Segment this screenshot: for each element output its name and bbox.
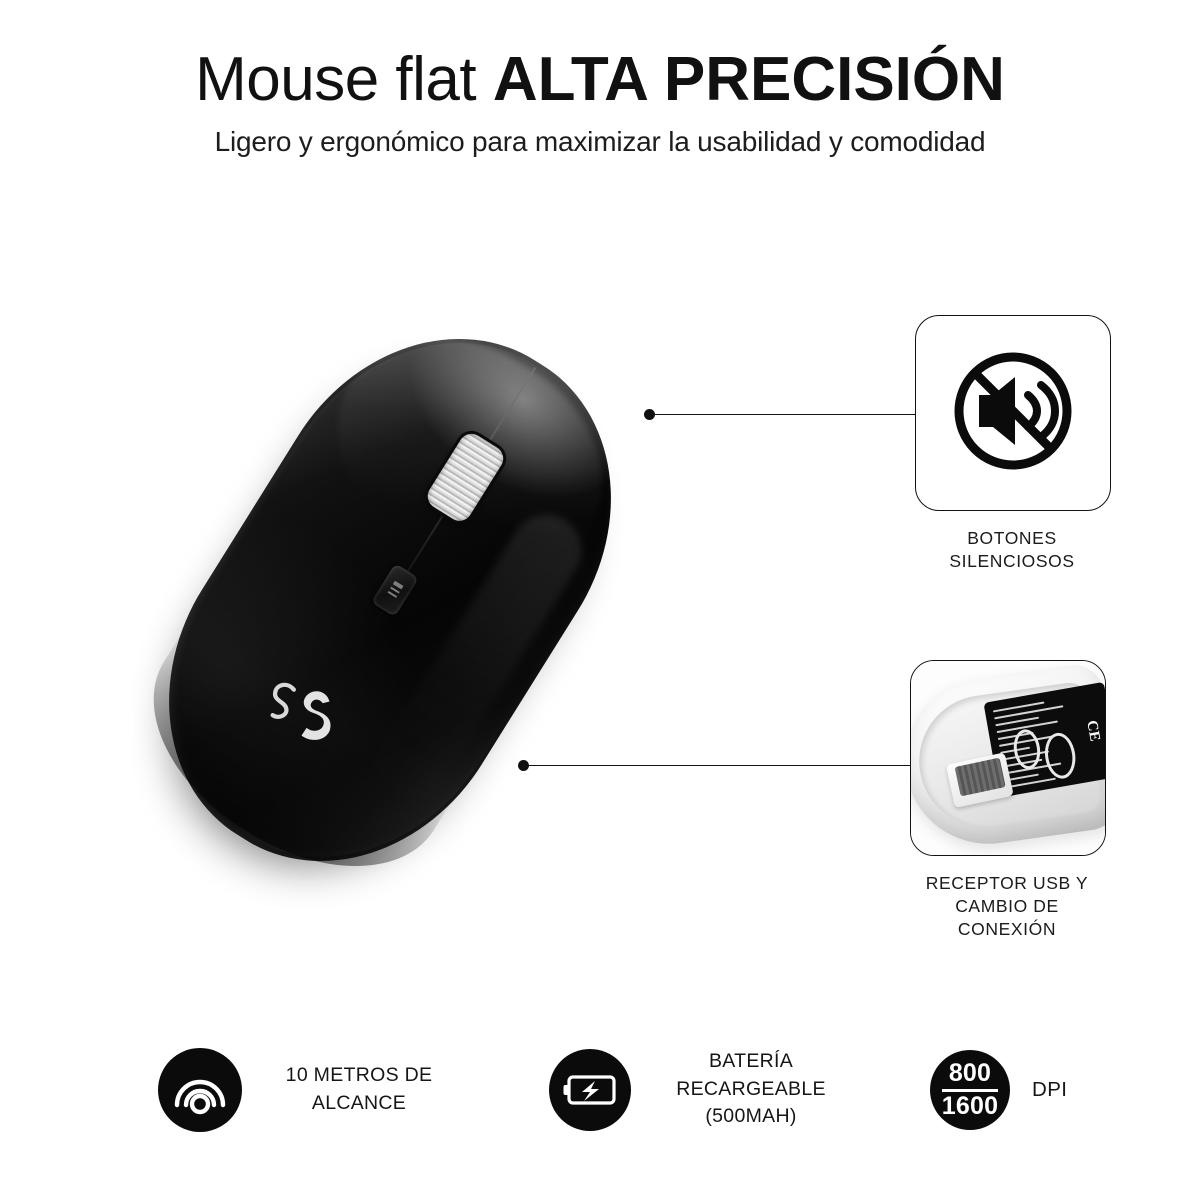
leader-line-usb-receiver xyxy=(528,765,910,766)
feature-range-text: 10 METROS DE ALCANCE xyxy=(264,1062,454,1117)
usb-receiver-photo: CE xyxy=(911,661,1105,855)
caption-line: BOTONES xyxy=(915,527,1109,550)
leader-dot-silent-buttons xyxy=(644,409,655,420)
feature-battery: BATERÍA RECARGEABLE (500MAH) xyxy=(549,1048,851,1131)
dpi-label: DPI xyxy=(1032,1078,1067,1102)
dpi-value-bottom: 1600 xyxy=(942,1094,998,1120)
brand-logo-icon xyxy=(256,673,342,751)
title-bold-part: ALTA PRECISIÓN xyxy=(493,45,1005,114)
mouse-illustration xyxy=(102,275,679,925)
feature-line: RECARGEABLE xyxy=(651,1076,851,1104)
callout-box-usb-receiver: CE xyxy=(910,660,1106,856)
dpi-badge: 800 1600 xyxy=(930,1050,1010,1130)
callout-caption-usb-receiver: RECEPTOR USB Y CAMBIO DE CONEXIÓN xyxy=(910,872,1104,941)
callout-usb-receiver: CE RECEPTOR USB Y CAMBIO DE CONEXIÓN xyxy=(910,660,1104,980)
mute-speaker-icon xyxy=(949,347,1077,475)
feature-line: BATERÍA xyxy=(651,1048,851,1076)
wireless-signal-icon xyxy=(158,1048,242,1132)
page-title: Mouse flat ALTA PRECISIÓN xyxy=(0,48,1200,112)
feature-line: (500MAH) xyxy=(651,1103,851,1131)
leader-line-silent-buttons xyxy=(654,414,916,415)
leader-dot-usb-receiver xyxy=(518,760,529,771)
feature-dpi: 800 1600 DPI xyxy=(930,1050,1067,1130)
caption-line: RECEPTOR USB Y xyxy=(910,872,1104,895)
callout-caption-silent-buttons: BOTONES SILENCIOSOS xyxy=(915,527,1109,573)
product-photo-main xyxy=(130,280,750,920)
dpi-values: 800 1600 xyxy=(942,1061,998,1119)
header: Mouse flat ALTA PRECISIÓN Ligero y ergon… xyxy=(0,48,1200,158)
caption-line: CONEXIÓN xyxy=(910,918,1104,941)
callout-silent-buttons: BOTONES SILENCIOSOS xyxy=(915,315,1109,595)
ce-mark: CE xyxy=(1081,719,1103,748)
caption-line: CAMBIO DE xyxy=(910,895,1104,918)
feature-strip: 10 METROS DE ALCANCE BATERÍA RECARGEABLE… xyxy=(0,1030,1200,1170)
battery-charging-icon xyxy=(549,1049,631,1131)
infographic-canvas: Mouse flat ALTA PRECISIÓN Ligero y ergon… xyxy=(0,0,1200,1200)
feature-range: 10 METROS DE ALCANCE xyxy=(158,1048,454,1132)
caption-line: SILENCIOSOS xyxy=(915,550,1109,573)
title-light-part: Mouse flat xyxy=(195,45,493,114)
page-subtitle: Ligero y ergonómico para maximizar la us… xyxy=(0,126,1200,158)
feature-line: ALCANCE xyxy=(264,1090,454,1118)
usb-nano-receiver xyxy=(946,752,1014,808)
callout-box-silent-buttons xyxy=(915,315,1111,511)
feature-line: 10 METROS DE xyxy=(264,1062,454,1090)
feature-battery-text: BATERÍA RECARGEABLE (500MAH) xyxy=(651,1048,851,1131)
mouse-underside: CE xyxy=(910,661,1106,854)
dpi-value-top: 800 xyxy=(949,1061,991,1087)
